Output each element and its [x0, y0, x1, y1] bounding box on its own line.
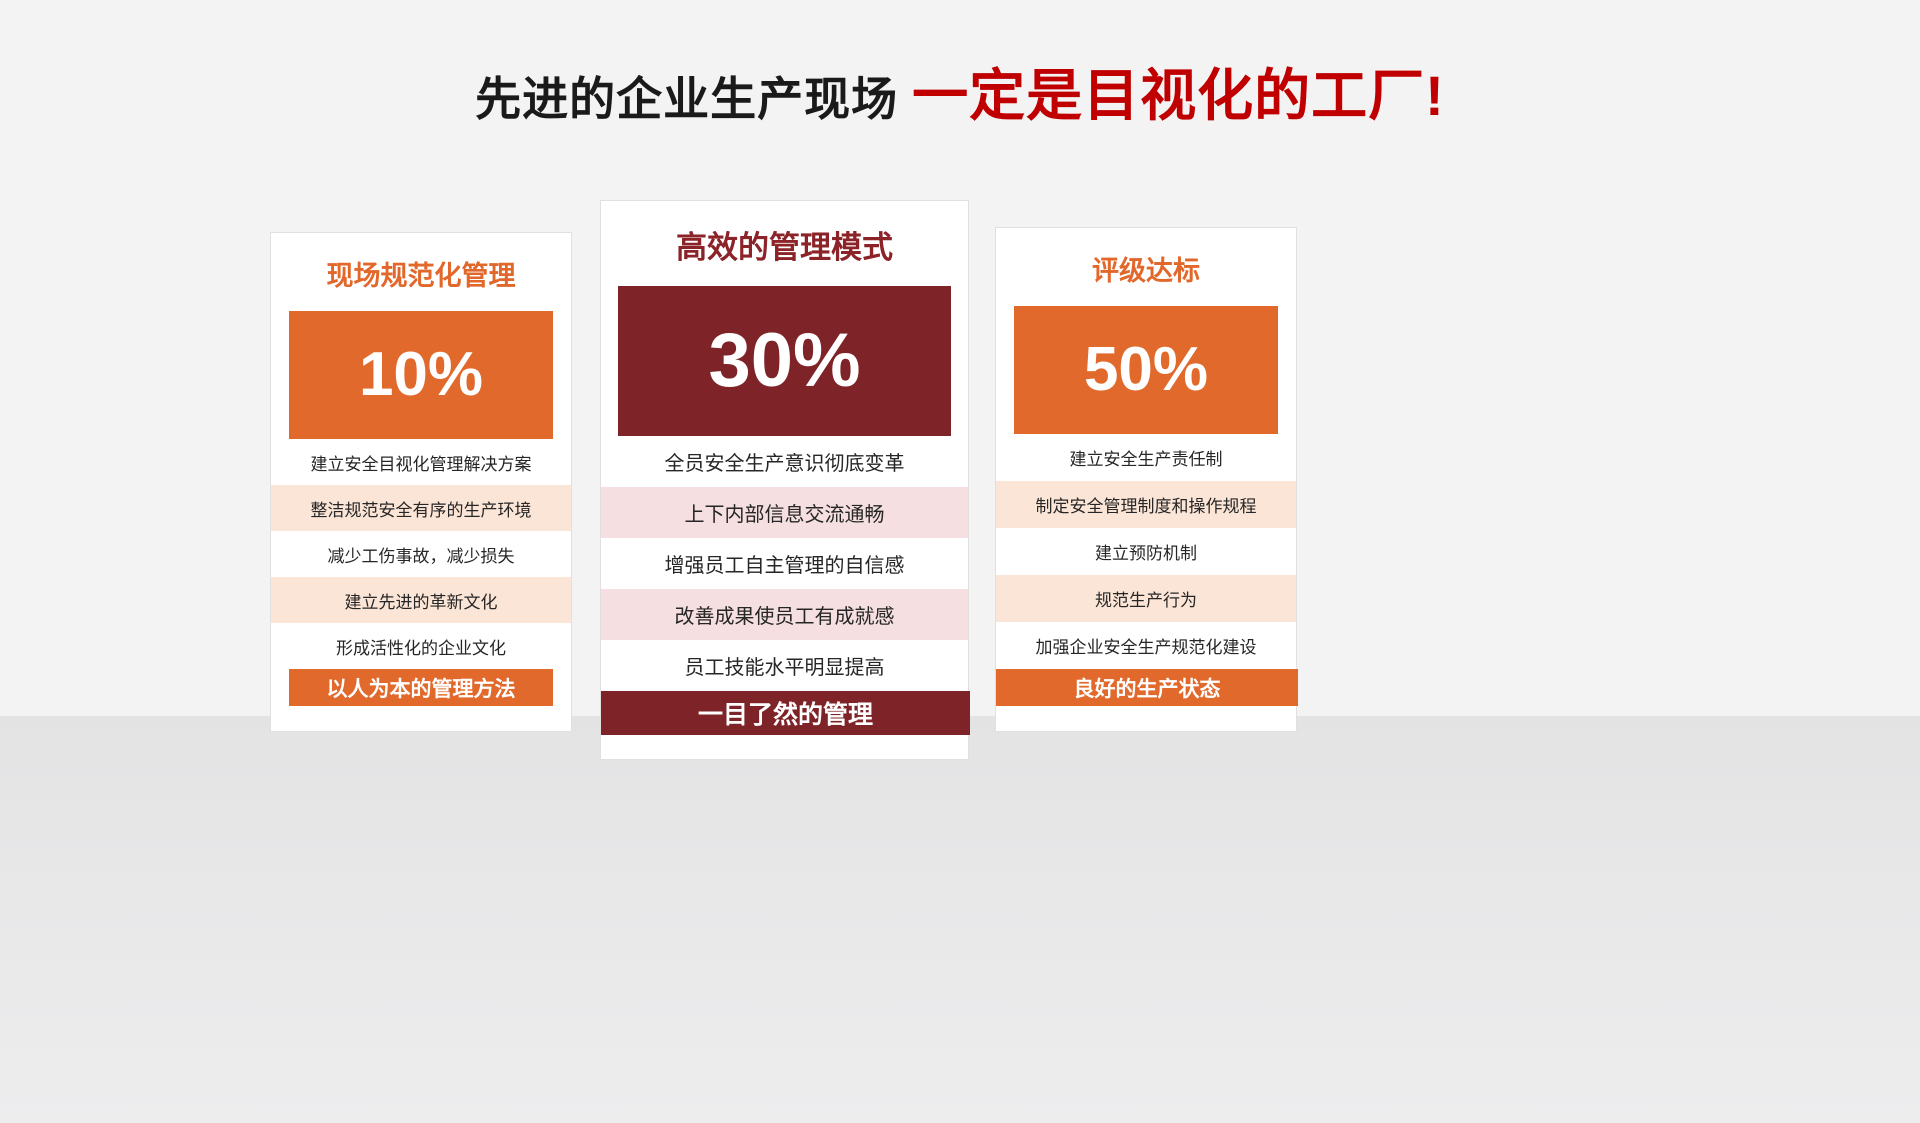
list-item[interactable]: 加强企业安全生产规范化建设 — [996, 622, 1296, 669]
page-title-lead: 先进的企业生产现场 — [475, 73, 898, 125]
list-item[interactable]: 全员安全生产意识彻底变革 — [601, 436, 968, 487]
slide-canvas: 先进的企业生产现场一定是目视化的工厂! 现场规范化管理 10% 建立安全目视化管… — [0, 0, 1920, 1123]
card-title: 评级达标 — [996, 258, 1296, 285]
background-lower-band — [0, 716, 1920, 1123]
card-footer-banner: 一目了然的管理 — [601, 691, 970, 735]
list-item[interactable]: 建立安全生产责任制 — [996, 434, 1296, 481]
card-footer-banner: 以人为本的管理方法 — [289, 669, 553, 706]
card-site-standardization[interactable]: 现场规范化管理 10% 建立安全目视化管理解决方案 整洁规范安全有序的生产环境 … — [270, 232, 572, 732]
list-item[interactable]: 建立预防机制 — [996, 528, 1296, 575]
stat-block: 30% — [618, 286, 951, 436]
stat-block: 50% — [1014, 306, 1278, 434]
card-rating-compliance[interactable]: 评级达标 50% 建立安全生产责任制 制定安全管理制度和操作规程 建立预防机制 … — [995, 227, 1297, 732]
list-item[interactable]: 规范生产行为 — [996, 575, 1296, 622]
card-efficient-management[interactable]: 高效的管理模式 30% 全员安全生产意识彻底变革 上下内部信息交流通畅 增强员工… — [600, 200, 969, 760]
benefit-list: 建立安全生产责任制 制定安全管理制度和操作规程 建立预防机制 规范生产行为 加强… — [996, 434, 1296, 669]
card-title: 高效的管理模式 — [601, 232, 968, 263]
page-title-highlight: 一定是目视化的工厂! — [912, 64, 1445, 127]
list-item[interactable]: 改善成果使员工有成就感 — [601, 589, 968, 640]
stat-value: 50% — [1084, 339, 1208, 401]
benefit-list: 全员安全生产意识彻底变革 上下内部信息交流通畅 增强员工自主管理的自信感 改善成… — [601, 436, 968, 691]
list-item[interactable]: 减少工伤事故，减少损失 — [271, 531, 571, 577]
page-title: 先进的企业生产现场一定是目视化的工厂! — [0, 68, 1920, 124]
list-item[interactable]: 制定安全管理制度和操作规程 — [996, 481, 1296, 528]
benefit-list: 建立安全目视化管理解决方案 整洁规范安全有序的生产环境 减少工伤事故，减少损失 … — [271, 439, 571, 669]
stat-block: 10% — [289, 311, 553, 439]
list-item[interactable]: 增强员工自主管理的自信感 — [601, 538, 968, 589]
list-item[interactable]: 整洁规范安全有序的生产环境 — [271, 485, 571, 531]
list-item[interactable]: 建立先进的革新文化 — [271, 577, 571, 623]
card-footer-banner: 良好的生产状态 — [996, 669, 1298, 706]
list-item[interactable]: 形成活性化的企业文化 — [271, 623, 571, 669]
stat-value: 10% — [359, 344, 483, 406]
list-item[interactable]: 员工技能水平明显提高 — [601, 640, 968, 691]
list-item[interactable]: 上下内部信息交流通畅 — [601, 487, 968, 538]
list-item[interactable]: 建立安全目视化管理解决方案 — [271, 439, 571, 485]
card-title: 现场规范化管理 — [271, 263, 571, 290]
stat-value: 30% — [708, 323, 860, 399]
